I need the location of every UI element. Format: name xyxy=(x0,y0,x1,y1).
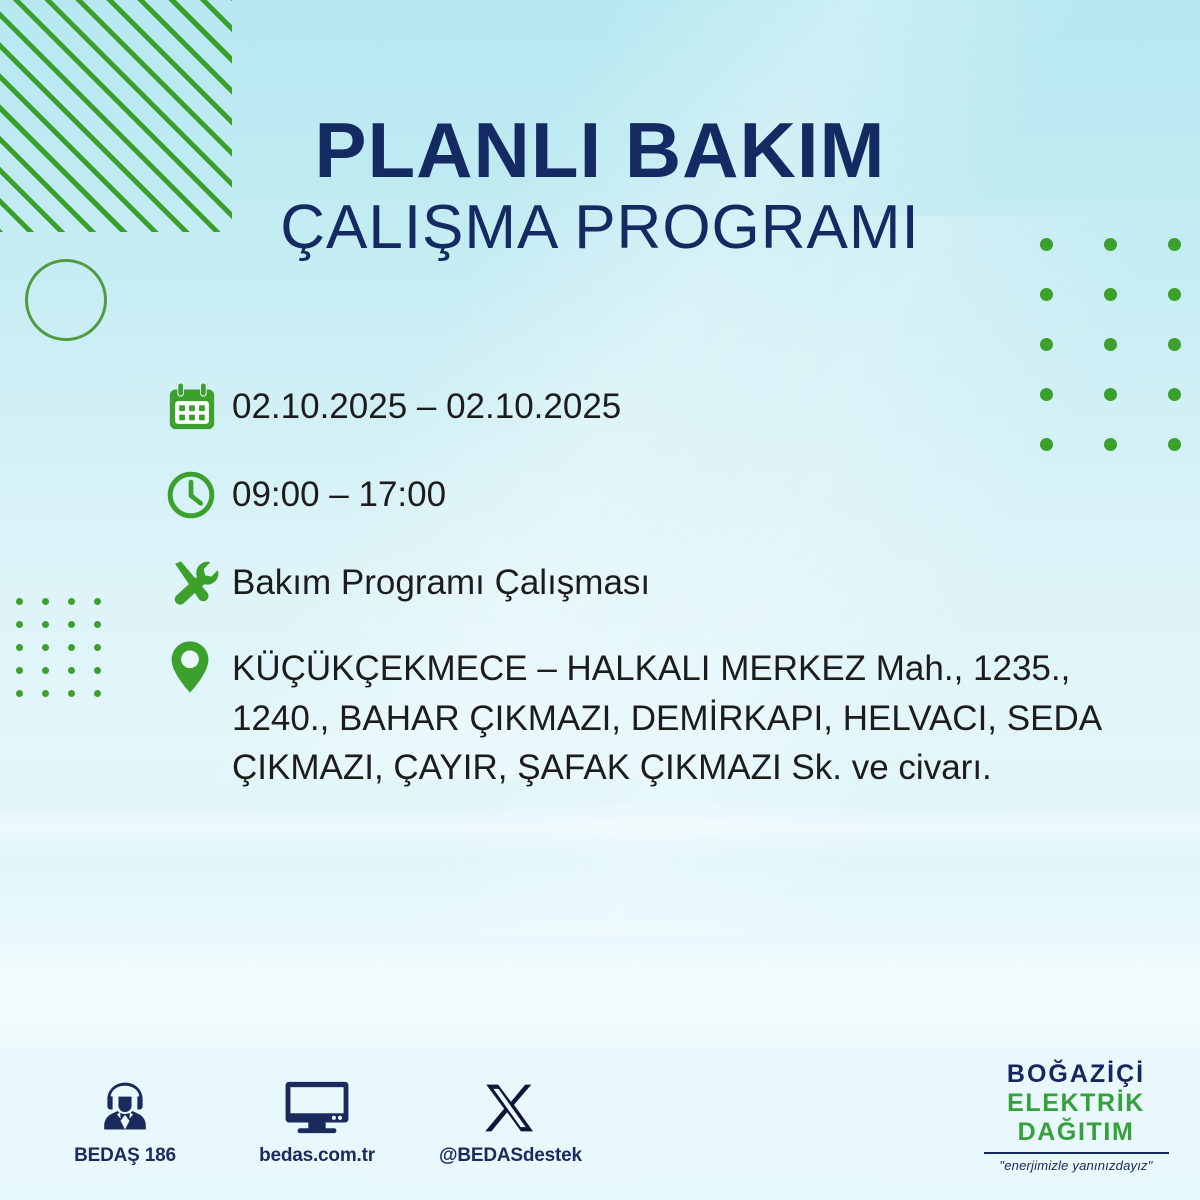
title-line-secondary: ÇALIŞMA PROGRAMI xyxy=(0,194,1200,262)
brand-line-bogazici: BOĞAZİÇİ xyxy=(976,1060,1176,1089)
background-wave-band-lower xyxy=(0,940,1200,1060)
brand-line-elektrik: ELEKTRİK xyxy=(976,1089,1176,1118)
headset-support-icon xyxy=(55,1072,195,1136)
maintenance-details: 02.10.2025 – 02.10.2025 09:00 – 17:00 xyxy=(160,378,1160,817)
company-logo: BOĞAZİÇİ ELEKTRİK DAĞITIM "enerjimizle y… xyxy=(976,1060,1176,1173)
tools-icon xyxy=(160,554,232,612)
calendar-icon xyxy=(160,378,232,436)
contact-social-x-label: @BEDASdestek xyxy=(439,1145,579,1167)
brand-slogan: "enerjimizle yanınızdayız" xyxy=(976,1158,1176,1173)
time-range-value: 09:00 – 17:00 xyxy=(232,466,446,518)
work-type-value: Bakım Programı Çalışması xyxy=(232,554,650,606)
clock-icon xyxy=(160,466,232,524)
date-range-value: 02.10.2025 – 02.10.2025 xyxy=(232,378,621,430)
location-value: KÜÇÜKÇEKMECE – HALKALI MERKEZ Mah., 1235… xyxy=(232,638,1160,793)
contact-website[interactable]: bedas.com.tr xyxy=(247,1072,387,1167)
x-social-icon xyxy=(439,1072,579,1136)
circle-outline-decoration xyxy=(25,259,107,341)
dot-grid-left-decoration xyxy=(16,598,120,713)
detail-row-time: 09:00 – 17:00 xyxy=(160,466,1160,524)
contact-social-x[interactable]: @BEDASdestek xyxy=(439,1072,579,1167)
brand-line-dagitim: DAĞITIM xyxy=(976,1118,1176,1147)
title-line-primary: PLANLI BAKIM xyxy=(0,112,1200,188)
planned-maintenance-poster: PLANLI BAKIM ÇALIŞMA PROGRAMI xyxy=(0,0,1200,1200)
monitor-website-icon xyxy=(247,1072,387,1136)
contact-call-center[interactable]: BEDAŞ 186 xyxy=(55,1072,195,1167)
brand-divider xyxy=(984,1152,1169,1154)
contact-call-center-label: BEDAŞ 186 xyxy=(55,1145,195,1167)
footer-contacts: BEDAŞ 186 bedas.com.tr xyxy=(55,1072,579,1167)
detail-row-location: KÜÇÜKÇEKMECE – HALKALI MERKEZ Mah., 1235… xyxy=(160,638,1160,793)
detail-row-date: 02.10.2025 – 02.10.2025 xyxy=(160,378,1160,436)
page-title: PLANLI BAKIM ÇALIŞMA PROGRAMI xyxy=(0,112,1200,263)
detail-row-work-type: Bakım Programı Çalışması xyxy=(160,554,1160,612)
map-pin-icon xyxy=(160,638,232,696)
contact-website-label: bedas.com.tr xyxy=(247,1145,387,1167)
